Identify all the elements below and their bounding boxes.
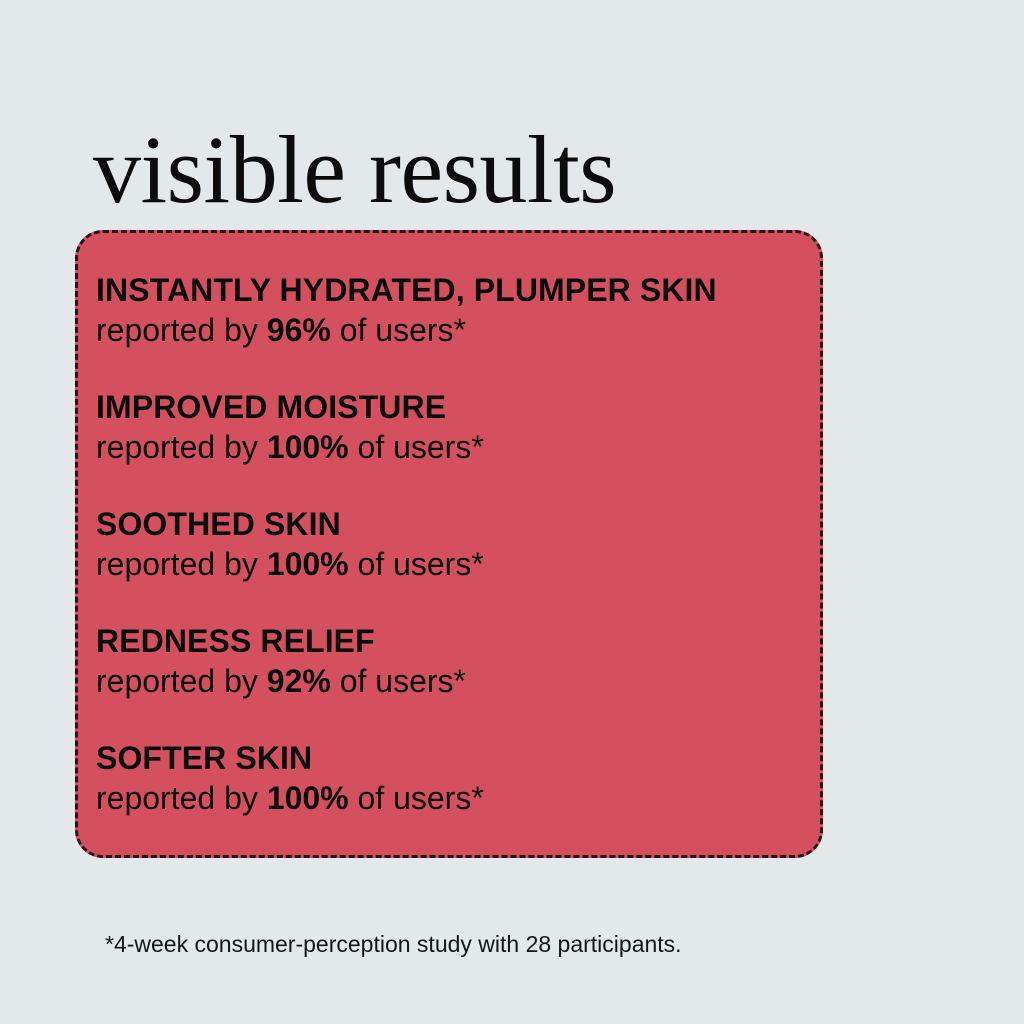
claim-percent: 100% [267,780,349,816]
claim-subtext: reported by 96% of users* [96,310,808,351]
claim-subtext: reported by 100% of users* [96,778,808,819]
claim-percent: 96% [267,312,331,348]
claim-prefix: reported by [96,429,267,465]
claim-suffix: of users* [331,663,466,699]
claim-prefix: reported by [96,312,267,348]
claim-prefix: reported by [96,780,267,816]
marketing-claims-page: visible results INSTANTLY HYDRATED, PLUM… [0,0,1024,1024]
results-card: INSTANTLY HYDRATED, PLUMPER SKIN reporte… [75,230,823,858]
claim-heading: IMPROVED MOISTURE [96,388,808,427]
claim-block: SOFTER SKIN reported by 100% of users* [96,739,808,819]
claim-suffix: of users* [349,780,484,816]
claim-heading: INSTANTLY HYDRATED, PLUMPER SKIN [96,271,808,310]
claim-block: SOOTHED SKIN reported by 100% of users* [96,505,808,585]
claim-prefix: reported by [96,663,267,699]
claim-percent: 100% [267,546,349,582]
claim-percent: 92% [267,663,331,699]
claim-suffix: of users* [349,429,484,465]
claim-subtext: reported by 92% of users* [96,661,808,702]
footnote: *4-week consumer-perception study with 2… [105,930,682,960]
claim-subtext: reported by 100% of users* [96,427,808,468]
claim-suffix: of users* [331,312,466,348]
claim-heading: REDNESS RELIEF [96,622,808,661]
claim-heading: SOFTER SKIN [96,739,808,778]
claim-suffix: of users* [349,546,484,582]
claim-block: IMPROVED MOISTURE reported by 100% of us… [96,388,808,468]
claim-percent: 100% [267,429,349,465]
claim-subtext: reported by 100% of users* [96,544,808,585]
claim-heading: SOOTHED SKIN [96,505,808,544]
claim-block: REDNESS RELIEF reported by 92% of users* [96,622,808,702]
claims-list: INSTANTLY HYDRATED, PLUMPER SKIN reporte… [96,271,808,819]
claim-prefix: reported by [96,546,267,582]
claim-block: INSTANTLY HYDRATED, PLUMPER SKIN reporte… [96,271,808,351]
page-title: visible results [93,122,616,218]
